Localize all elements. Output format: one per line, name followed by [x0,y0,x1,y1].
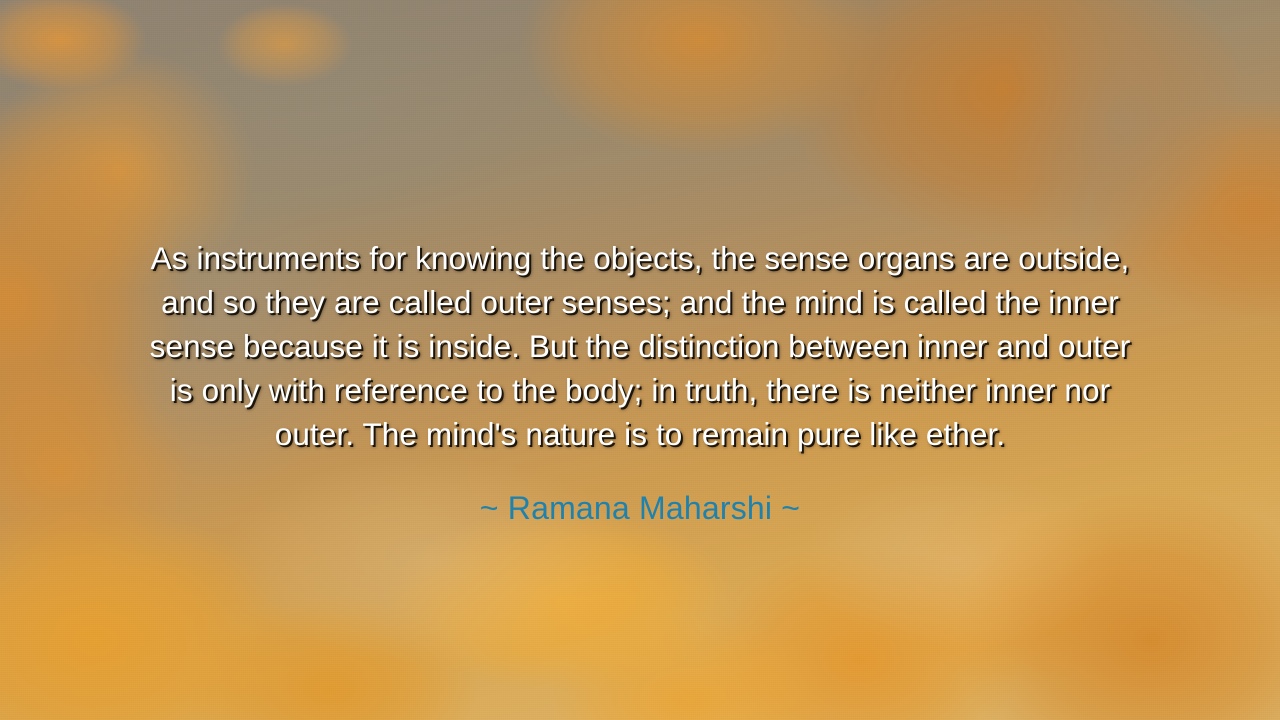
quote-text: As instruments for knowing the objects, … [140,236,1140,456]
quote-attribution: ~ Ramana Maharshi ~ [140,456,1140,528]
quote-card: As instruments for knowing the objects, … [0,0,1280,720]
quote-content: As instruments for knowing the objects, … [0,236,1280,528]
